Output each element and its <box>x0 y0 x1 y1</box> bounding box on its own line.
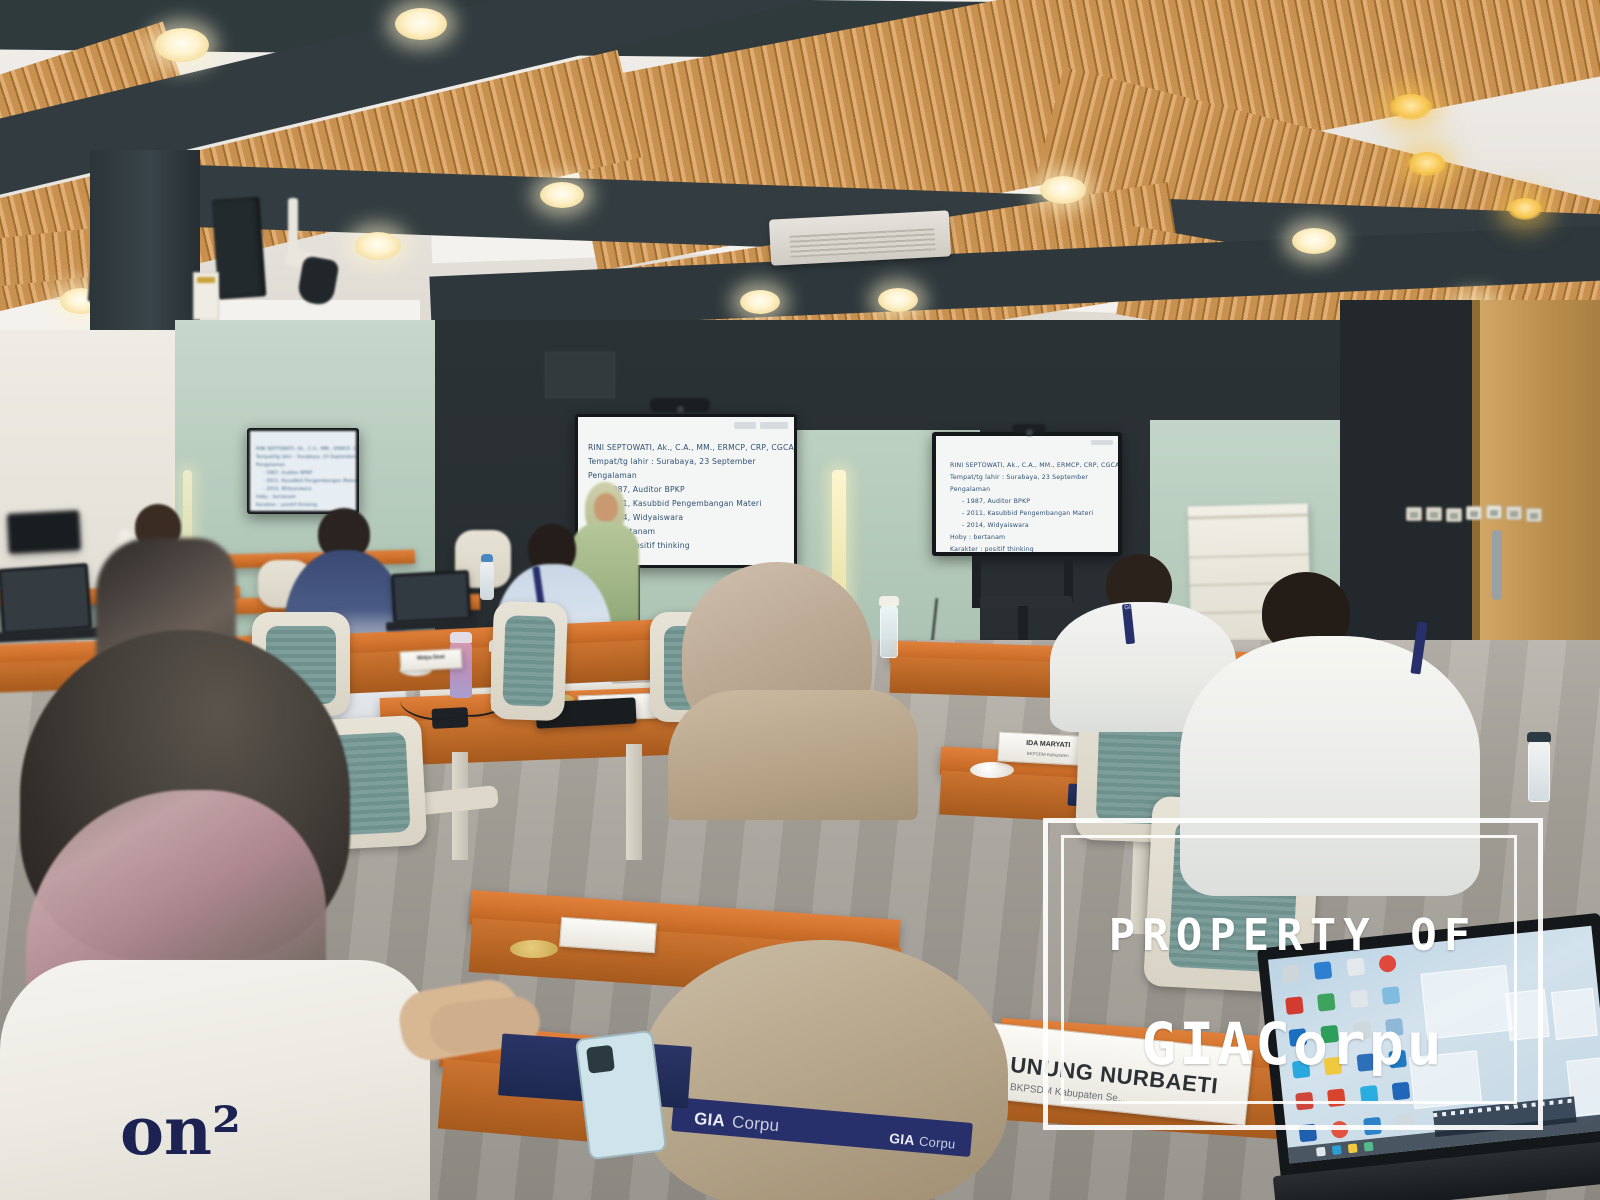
bottle-cap <box>1527 732 1551 742</box>
warm-downlight <box>1390 94 1432 120</box>
left-monitor-slide: RINI SEPTOWATI, Ak., C.A., MM., ERMCP, C… <box>250 431 356 511</box>
clear-bottle <box>1528 740 1550 802</box>
slide-line: - 2011, Kasubbid Pengembangan Materi <box>962 510 1093 517</box>
smartphone[interactable] <box>575 1030 667 1161</box>
downlight <box>155 28 209 62</box>
wall-switch[interactable] <box>1486 505 1502 519</box>
slide-line: Hoby : bertanam <box>256 495 296 500</box>
bottle-cap <box>481 554 493 562</box>
watermark-line-1: PROPERTY OF <box>1043 910 1543 961</box>
downlight <box>355 232 401 260</box>
downlight <box>740 290 780 314</box>
wall-switch[interactable] <box>1406 507 1422 521</box>
webcam <box>650 398 710 412</box>
saucer <box>970 762 1014 778</box>
warm-downlight <box>1408 152 1446 176</box>
ceiling-speaker <box>212 196 267 299</box>
laptop[interactable] <box>0 563 92 635</box>
webcam <box>1012 424 1046 433</box>
watermark-line-2: GIACorpu <box>1043 1010 1543 1078</box>
slide-line: Tempat/tg lahir : Surabaya, 23 September <box>950 474 1088 481</box>
desktop-thumbnail <box>1551 988 1598 1040</box>
wall-switch[interactable] <box>1446 508 1462 522</box>
photo-scene: RINI SEPTOWATI, Ak., C.A., MM., ERMCP, C… <box>0 0 1600 1200</box>
slide-line: Pengalaman <box>588 471 637 480</box>
slide-line: Pengalaman <box>256 463 285 468</box>
jacket-text: on² <box>120 1092 241 1170</box>
wall-switch[interactable] <box>1506 506 1522 520</box>
downlight <box>878 288 918 312</box>
downlight <box>540 182 584 208</box>
clear-bottle <box>880 604 898 658</box>
bottle-cap <box>879 596 899 606</box>
slide-line: RINI SEPTOWATI, Ak., C.A., MM., ERMCP, C… <box>256 447 356 452</box>
water-bottle <box>480 560 494 600</box>
coaster <box>510 940 558 958</box>
slide-line: Tempat/tg lahir : Surabaya, 23 September <box>588 457 756 466</box>
slide-line: - 1987, Auditor BPKP <box>263 471 313 476</box>
downlight <box>1292 228 1336 254</box>
name-card: Widya Dewi <box>400 648 463 671</box>
warm-downlight <box>1508 198 1542 220</box>
side-screen-slide: RINI SEPTOWATI, Ak., C.A., MM., ERMCP, C… <box>936 436 1118 552</box>
door-handle[interactable] <box>1492 530 1502 600</box>
slide-line: - 2014, Widyaiswara <box>962 522 1029 529</box>
slide-line: Tempat/tg lahir : Surabaya, 23 September <box>256 455 356 460</box>
pillar-label <box>193 272 219 320</box>
wall-switch[interactable] <box>1466 506 1482 520</box>
laptop[interactable] <box>7 510 81 554</box>
slide-line: Karakter : positif thinking <box>950 546 1034 552</box>
left-wall-monitor: RINI SEPTOWATI, Ak., C.A., MM., ERMCP, C… <box>247 428 359 514</box>
wall-switch[interactable] <box>1526 508 1542 522</box>
wall-switch[interactable] <box>1426 507 1442 521</box>
desk-leg <box>626 744 642 860</box>
slide-line: - 2011, Kasubbid Pengembangan Materi <box>263 479 356 484</box>
slide-line: Karakter : positif thinking <box>256 503 317 508</box>
slide-line: RINI SEPTOWATI, Ak., C.A., MM., ERMCP, C… <box>588 443 794 452</box>
attendee-shawl <box>668 690 918 820</box>
laptop[interactable] <box>391 570 472 624</box>
bottle-cap <box>450 632 472 643</box>
slide-line: RINI SEPTOWATI, Ak., C.A., MM., ERMCP, C… <box>950 462 1118 469</box>
slide-line: - 2014, Widyaiswara <box>263 487 312 492</box>
downlight <box>395 8 447 40</box>
attendee-hijab <box>640 940 1008 1200</box>
slide-line: - 2011, Kasubbid Pengembangan Materi <box>602 499 762 508</box>
slide-line: Pengalaman <box>950 486 990 493</box>
downlight <box>1040 176 1086 204</box>
side-tv-screen: RINI SEPTOWATI, Ak., C.A., MM., ERMCP, C… <box>932 432 1122 556</box>
slide-line: - 1987, Auditor BPKP <box>962 498 1030 505</box>
watermark: PROPERTY OF GIACorpu <box>1043 818 1543 1130</box>
presenter-face <box>594 493 618 522</box>
wall-panel <box>545 352 615 398</box>
slide-line: Hoby : bertanam <box>950 534 1005 541</box>
